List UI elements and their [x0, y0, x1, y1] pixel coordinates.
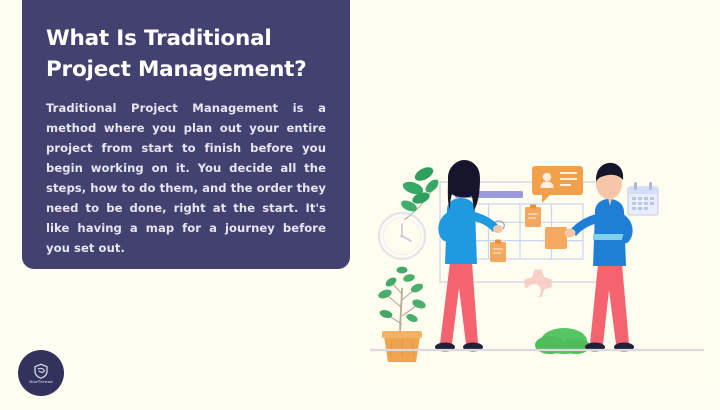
- logo-wordmark: OneThread: [29, 381, 53, 385]
- text-card: What Is Traditional Project Management? …: [22, 0, 350, 269]
- page-title: What Is Traditional Project Management?: [46, 24, 326, 85]
- task-card: [545, 227, 567, 249]
- onethread-mark-icon: [32, 362, 50, 380]
- slide-canvas: What Is Traditional Project Management? …: [0, 0, 720, 410]
- task-card: [490, 240, 506, 263]
- project-planning-illustration: [362, 138, 712, 374]
- calendar-icon: [628, 182, 658, 215]
- task-card: [525, 205, 541, 228]
- body-paragraph: Traditional Project Management is a meth…: [46, 99, 326, 259]
- illustration-panel: [362, 138, 712, 374]
- logo-badge[interactable]: OneThread: [18, 350, 64, 396]
